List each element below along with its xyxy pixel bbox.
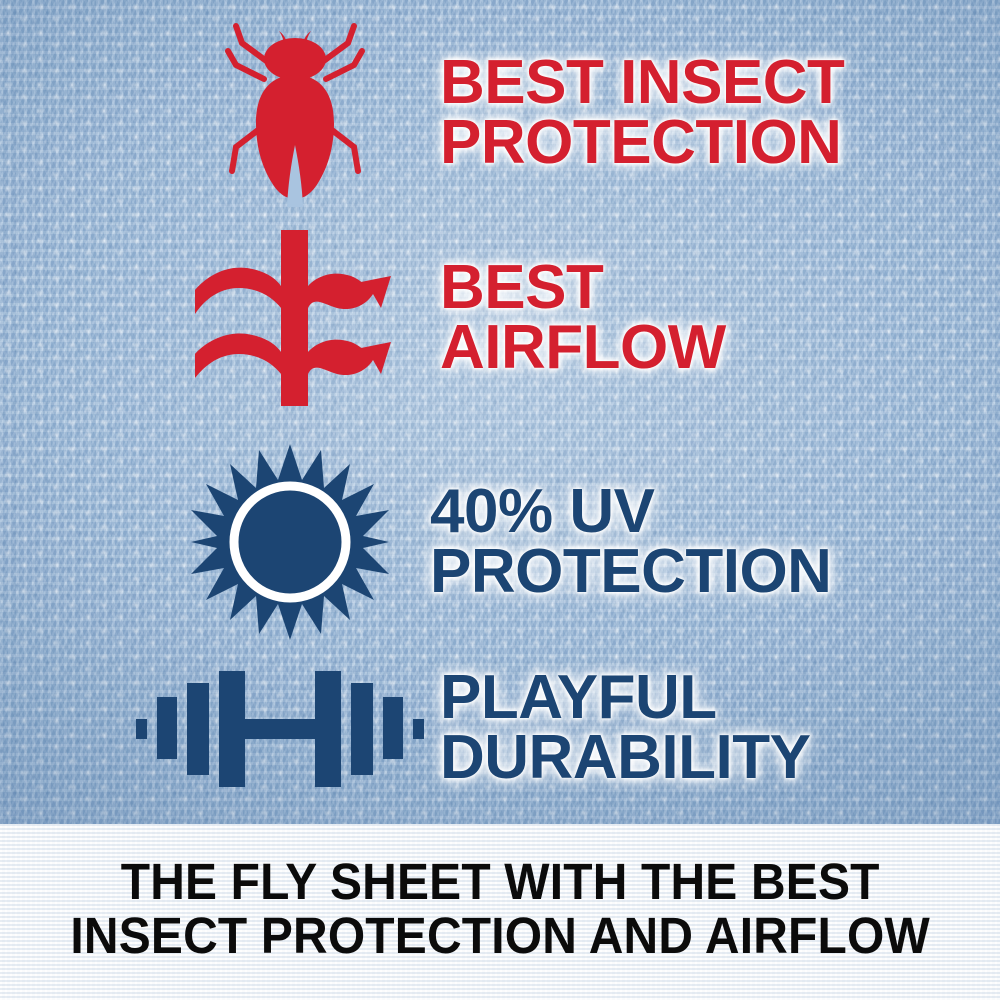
feature-row-uv-protection: 40% UV PROTECTION xyxy=(150,436,980,648)
dumbbell-icon-container xyxy=(120,653,440,803)
sun-icon xyxy=(190,442,390,642)
feature-list: BEST INSECT PROTECTION xyxy=(0,0,1000,824)
feature-label-insect-protection: BEST INSECT PROTECTION xyxy=(440,53,844,172)
feature-row-insect-protection: BEST INSECT PROTECTION xyxy=(150,18,980,208)
sun-icon-container xyxy=(150,436,430,648)
feature-label-uv-protection: 40% UV PROTECTION xyxy=(430,482,831,601)
caption-band: THE FLY SHEET WITH THE BEST INSECT PROTE… xyxy=(0,824,1000,1000)
fly-icon xyxy=(220,19,370,207)
product-feature-infographic: BEST INSECT PROTECTION xyxy=(0,0,1000,1000)
feature-row-durability: PLAYFUL DURABILITY xyxy=(120,648,980,808)
feature-label-airflow: BEST AIRFLOW xyxy=(440,258,726,377)
caption-text: THE FLY SHEET WITH THE BEST INSECT PROTE… xyxy=(70,855,929,969)
dumbbell-icon xyxy=(130,663,430,793)
feature-row-airflow: BEST AIRFLOW xyxy=(150,222,980,414)
fly-icon-container xyxy=(150,18,440,208)
feature-label-durability: PLAYFUL DURABILITY xyxy=(440,668,810,787)
airflow-arrows-icon xyxy=(185,228,405,408)
airflow-icon-container xyxy=(150,222,440,414)
